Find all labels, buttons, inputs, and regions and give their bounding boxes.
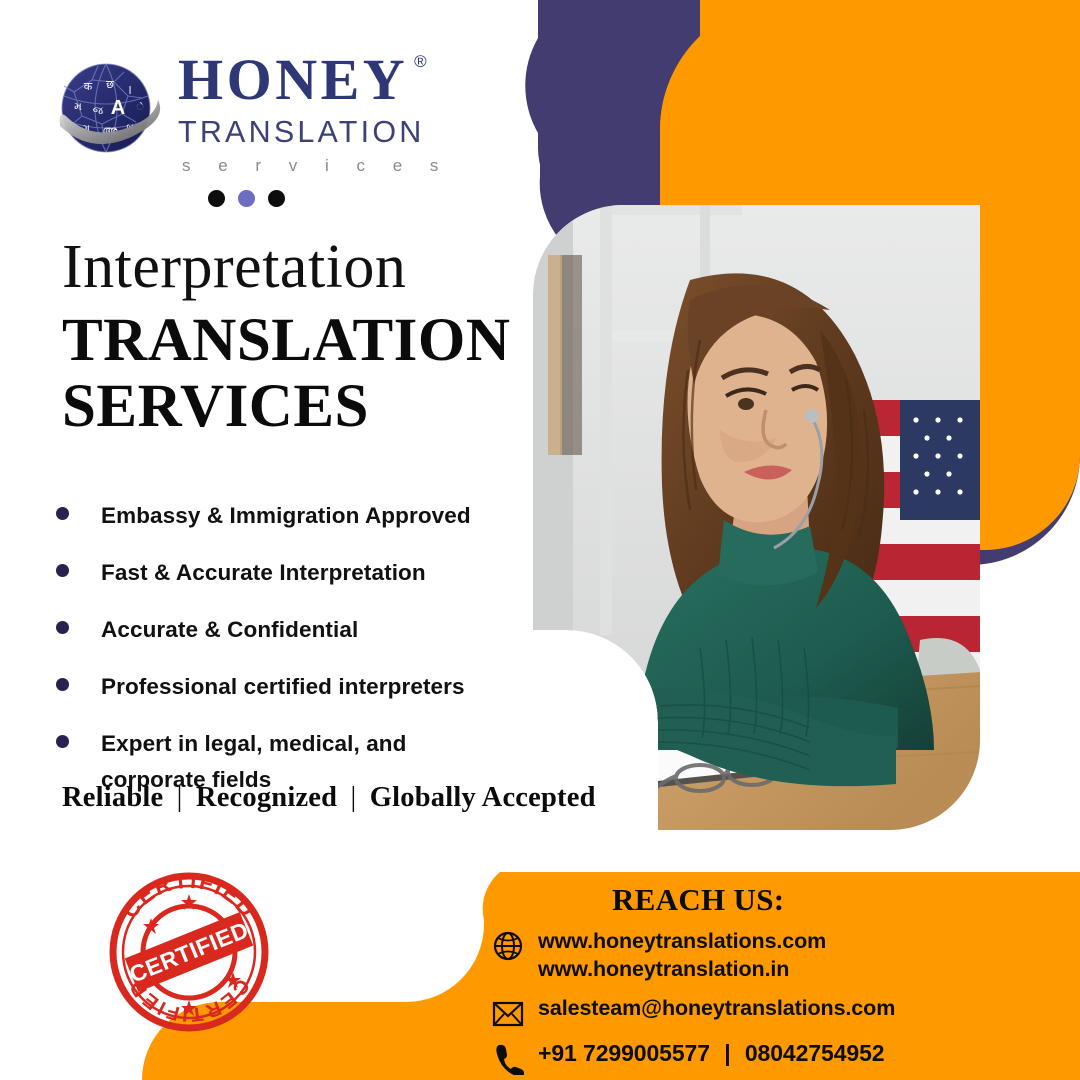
envelope-icon [492, 995, 538, 1027]
headline-line-1: TRANSLATION [62, 308, 510, 374]
tagline-separator-1: | [171, 782, 189, 813]
svg-text:મ: મ [74, 100, 82, 113]
bullet-icon [56, 564, 69, 577]
phone-primary[interactable]: +91 7299005577 [538, 1040, 710, 1066]
logo-services-line: s e r v i c e s [178, 156, 450, 176]
headline-line-2: SERVICES [62, 374, 510, 440]
dot-1 [208, 190, 225, 207]
dot-3 [268, 190, 285, 207]
logo-wordmark: HONEY ® [178, 52, 408, 107]
logo-name: HONEY [178, 47, 408, 112]
feature-list: Embassy & Immigration Approved Fast & Ac… [56, 498, 526, 819]
list-item: Accurate & Confidential [56, 612, 526, 648]
bullet-icon [56, 735, 69, 748]
logo-subline: TRANSLATION [178, 115, 450, 150]
tagline-separator-2: | [345, 782, 363, 813]
brand-logo: क छ l મ જ ે ગ അ બ A HONEY [52, 48, 462, 176]
globe-icon: क छ l મ જ ે ગ അ બ A [52, 52, 164, 164]
tagline-part-2: Recognized [196, 782, 337, 813]
svg-text:छ: छ [106, 78, 114, 91]
logo-dots [208, 190, 285, 207]
registered-mark: ® [414, 54, 430, 70]
svg-text:A: A [111, 97, 125, 119]
contact-row-website[interactable]: www.honeytranslations.com www.honeytrans… [492, 928, 1052, 983]
svg-text:क: क [84, 80, 93, 93]
tagline-part-1: Reliable [62, 782, 163, 813]
contact-row-email[interactable]: salesteam@honeytranslations.com [492, 995, 1052, 1027]
list-item: Embassy & Immigration Approved [56, 498, 526, 534]
tagline: Reliable | Recognized | Globally Accepte… [62, 782, 596, 814]
certified-stamp: CERTIFIED CERTIFIED CERTIFIED [105, 868, 270, 1033]
list-item: Professional certified interpreters [56, 669, 526, 705]
feature-text: Accurate & Confidential [101, 612, 358, 648]
poster-canvas: क छ l મ જ ે ગ അ બ A HONEY [0, 0, 1080, 1080]
feature-text: Professional certified interpreters [101, 669, 465, 705]
phone-icon [492, 1039, 538, 1075]
website-secondary[interactable]: www.honeytranslation.in [538, 956, 826, 984]
website-text: www.honeytranslations.com www.honeytrans… [538, 928, 826, 983]
svg-text:ે: ે [136, 101, 143, 113]
email-address[interactable]: salesteam@honeytranslations.com [538, 995, 895, 1023]
bullet-icon [56, 621, 69, 634]
headline-script: Interpretation [62, 236, 406, 298]
website-primary[interactable]: www.honeytranslations.com [538, 928, 826, 956]
contact-row-phone[interactable]: +91 7299005577 | 08042754952 [492, 1039, 1052, 1075]
phone-separator: | [716, 1040, 738, 1066]
feature-text: Fast & Accurate Interpretation [101, 555, 426, 591]
globe-icon [492, 928, 538, 962]
bullet-icon [56, 507, 69, 520]
feature-text: Embassy & Immigration Approved [101, 498, 471, 534]
tagline-part-3: Globally Accepted [370, 782, 596, 813]
contact-list: www.honeytranslations.com www.honeytrans… [492, 928, 1052, 1080]
page-title: TRANSLATION SERVICES [62, 308, 510, 440]
phone-numbers[interactable]: +91 7299005577 | 08042754952 [538, 1039, 884, 1068]
svg-text:જ: જ [93, 104, 104, 117]
dot-2 [238, 190, 255, 207]
list-item: Fast & Accurate Interpretation [56, 555, 526, 591]
phone-secondary[interactable]: 08042754952 [745, 1040, 885, 1066]
bullet-icon [56, 678, 69, 691]
svg-text:l: l [128, 84, 131, 97]
contact-heading: REACH US: [612, 882, 784, 918]
